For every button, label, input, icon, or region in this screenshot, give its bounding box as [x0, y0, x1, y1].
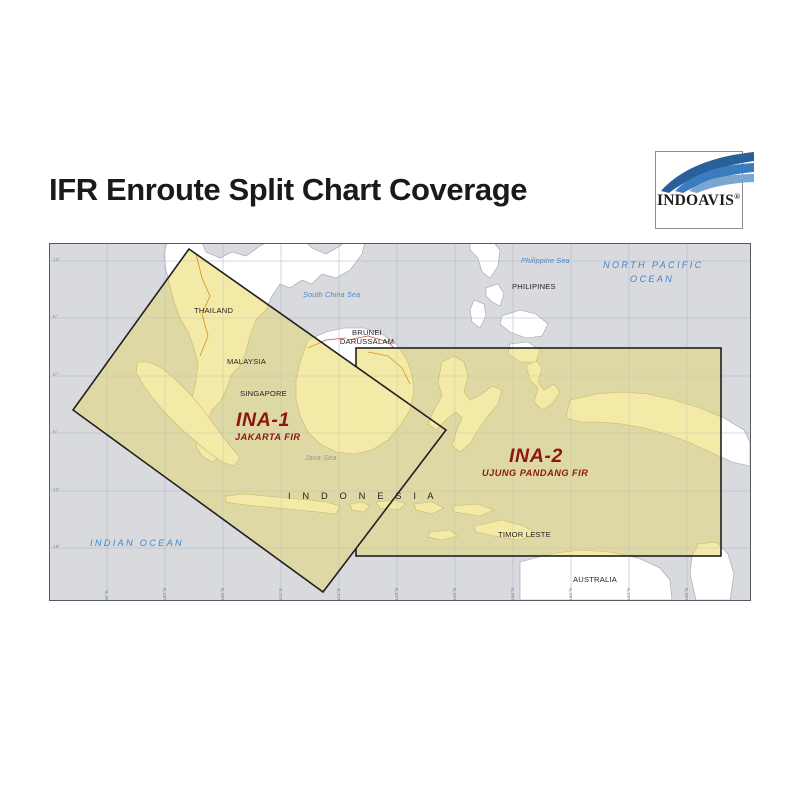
lon-tick: 95°E	[104, 590, 109, 601]
label-indonesia: I N D O N E S I A	[288, 490, 438, 501]
lon-tick: 140°E	[626, 587, 631, 601]
label-java-sea: Java Sea	[305, 453, 337, 462]
label-philipines: PHILIPINES	[512, 282, 556, 291]
coverage-map[interactable]: 10° 5° 0° 5° 10° 15° 95°E 100°E 105°E 11…	[49, 243, 751, 601]
lat-tick: 0°	[53, 372, 58, 377]
lon-tick: 145°E	[684, 587, 689, 601]
label-north-pacific-ocean-line2: OCEAN	[630, 273, 674, 286]
lon-tick: 110°E	[278, 588, 283, 601]
logo-swoosh-icon	[655, 151, 757, 231]
indoavis-logo: INDOAVIS®	[655, 151, 757, 231]
label-brunei-line2: DARUSSALAM	[328, 337, 406, 346]
ina1-code-label: INA-1	[236, 409, 290, 432]
lat-tick: 5°	[53, 429, 58, 434]
label-philippine-sea: Philippine Sea	[521, 256, 570, 265]
logo-wordmark: INDOAVIS®	[657, 192, 757, 210]
label-thailand: THAILAND	[194, 306, 233, 315]
lon-tick: 115°E	[336, 588, 341, 601]
ina1-fir-label: JAKARTA FIR	[235, 432, 301, 442]
label-brunei-darussalam: BRUNEI DARUSSALAM	[328, 328, 406, 346]
lat-tick: 10°	[53, 487, 61, 492]
lon-tick: 120°E	[394, 587, 399, 601]
label-australia: AUSTRALIA	[573, 575, 617, 584]
ina2-code-label: INA-2	[509, 445, 563, 468]
lat-tick: 10°	[53, 257, 61, 262]
label-south-china-sea: South China Sea	[303, 290, 360, 299]
header: IFR Enroute Split Chart Coverage INDOAVI…	[0, 148, 800, 238]
lon-tick: 100°E	[162, 587, 167, 601]
lon-tick: 125°E	[452, 587, 457, 601]
lon-tick: 105°E	[220, 587, 225, 601]
label-indian-ocean: INDIAN OCEAN	[90, 537, 184, 550]
page-title: IFR Enroute Split Chart Coverage	[49, 172, 527, 208]
label-malaysia: MALAYSIA	[227, 357, 266, 366]
lat-tick: 5°	[53, 314, 58, 319]
label-brunei-line1: BRUNEI	[328, 328, 406, 337]
lon-tick: 130°E	[510, 587, 515, 601]
label-timor-leste: TIMOR LESTE	[498, 530, 551, 539]
lon-tick: 135°E	[568, 587, 573, 601]
page-root: IFR Enroute Split Chart Coverage INDOAVI…	[0, 0, 800, 800]
lat-tick: 15°	[53, 544, 61, 549]
label-singapore: SINGAPORE	[240, 389, 287, 398]
label-north-pacific-ocean-line1: NORTH PACIFIC	[603, 259, 704, 272]
ina2-fir-label: UJUNG PANDANG FIR	[482, 468, 588, 478]
